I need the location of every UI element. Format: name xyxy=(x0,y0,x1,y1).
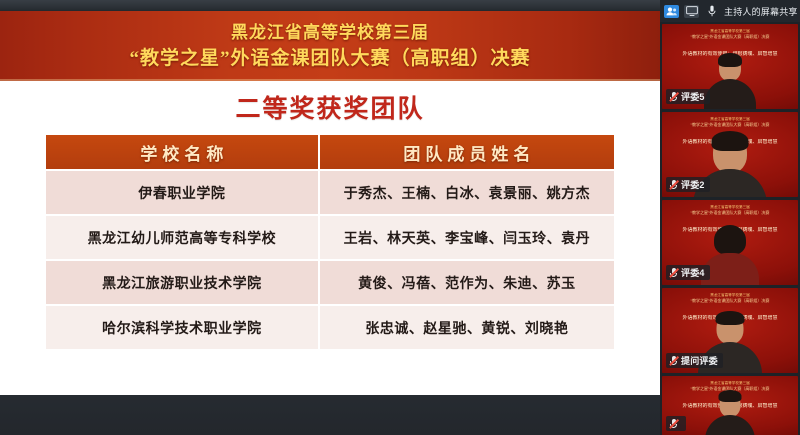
participant-tile[interactable]: 黑龙江省高等学校第三届 “教学之星”外语金课团队大赛（高职组）决赛 外语教材的有… xyxy=(662,288,798,373)
table-row: 哈尔滨科学技术职业学院 张忠诚、赵星驰、黄锐、刘晓艳 xyxy=(46,306,614,349)
awards-table-wrap: 学校名称 团队成员姓名 伊春职业学院 于秀杰、王楠、白冰、袁景丽、姚方杰 黑龙江… xyxy=(0,133,660,351)
participant-tile[interactable]: 黑龙江省高等学校第三届 “教学之星”外语金课团队大赛（高职组）决赛 外语教材的有… xyxy=(662,24,798,109)
shared-screen-area[interactable]: 黑龙江省高等学校第三届 “教学之星”外语金课团队大赛（高职组）决赛 二等奖获奖团… xyxy=(0,0,660,435)
slide-subtitle: 二等奖获奖团队 xyxy=(235,89,424,125)
cell-school: 黑龙江幼儿师范高等专科学校 xyxy=(46,216,318,259)
table-row: 黑龙江幼儿师范高等专科学校 王岩、林天英、李宝峰、闫玉玲、袁丹 xyxy=(46,216,614,259)
awards-table: 学校名称 团队成员姓名 伊春职业学院 于秀杰、王楠、白冰、袁景丽、姚方杰 黑龙江… xyxy=(44,133,616,351)
mic-muted-icon xyxy=(669,356,678,366)
tile-slide-line-2: “教学之星”外语金课团队大赛（高职组）决赛 xyxy=(666,210,794,216)
tile-name-badge: 评委5 xyxy=(666,89,710,104)
participants-icon[interactable] xyxy=(664,5,679,18)
top-letterbox-bar xyxy=(0,0,660,11)
tile-label: 评委4 xyxy=(681,266,705,279)
tile-name-badge: 提问评委 xyxy=(666,353,723,368)
meeting-screen: 黑龙江省高等学校第三届 “教学之星”外语金课团队大赛（高职组）决赛 二等奖获奖团… xyxy=(0,0,800,435)
cell-school: 伊春职业学院 xyxy=(46,171,318,214)
participant-tiles: 黑龙江省高等学校第三届 “教学之星”外语金课团队大赛（高职组）决赛 外语教材的有… xyxy=(660,22,800,435)
tile-name-badge: 评委2 xyxy=(666,177,710,192)
tile-label: 评委5 xyxy=(681,90,705,103)
tile-slide-line-2: “教学之星”外语金课团队大赛（高职组）决赛 xyxy=(666,34,794,40)
mic-muted-icon xyxy=(669,180,678,190)
mic-muted-icon xyxy=(669,419,678,429)
cell-school: 哈尔滨科学技术职业学院 xyxy=(46,306,318,349)
slide-subtitle-area: 二等奖获奖团队 xyxy=(0,81,660,133)
screen-share-icon[interactable] xyxy=(684,5,699,18)
banner-title-line-1: 黑龙江省高等学校第三届 xyxy=(231,21,429,45)
tile-name-badge: 评委4 xyxy=(666,265,710,280)
cell-members: 张忠诚、赵星驰、黄锐、刘晓艳 xyxy=(320,306,614,349)
banner-title-line-2: “教学之星”外语金课团队大赛（高职组）决赛 xyxy=(129,45,530,72)
tile-slide-line-2: “教学之星”外语金课团队大赛（高职组）决赛 xyxy=(666,298,794,304)
tile-name-badge xyxy=(666,416,686,431)
rail-header-title: 主持人的屏幕共享 xyxy=(724,5,798,18)
table-row: 伊春职业学院 于秀杰、王楠、白冰、袁景丽、姚方杰 xyxy=(46,171,614,214)
tile-slide-line-2: “教学之星”外语金课团队大赛（高职组）决赛 xyxy=(666,122,794,128)
mic-muted-icon xyxy=(669,92,678,102)
mic-muted-icon xyxy=(669,268,678,278)
cell-school: 黑龙江旅游职业技术学院 xyxy=(46,261,318,304)
column-header-members: 团队成员姓名 xyxy=(320,135,614,169)
cell-members: 于秀杰、王楠、白冰、袁景丽、姚方杰 xyxy=(320,171,614,214)
presentation-slide: 黑龙江省高等学校第三届 “教学之星”外语金课团队大赛（高职组）决赛 二等奖获奖团… xyxy=(0,11,660,395)
participant-tile[interactable]: 黑龙江省高等学校第三届 “教学之星”外语金课团队大赛（高职组）决赛 外语教材的有… xyxy=(662,376,798,435)
video-rail: 主持人的屏幕共享 黑龙江省高等学校第三届 “教学之星”外语金课团队大赛（高职组）… xyxy=(660,0,800,435)
bottom-letterbox-bar xyxy=(0,395,660,435)
rail-header: 主持人的屏幕共享 xyxy=(660,0,800,22)
tile-label: 评委2 xyxy=(681,178,705,191)
participant-tile[interactable]: 黑龙江省高等学校第三届 “教学之星”外语金课团队大赛（高职组）决赛 外语教材的有… xyxy=(662,112,798,197)
cell-members: 黄俊、冯蓓、范作为、朱迪、苏玉 xyxy=(320,261,614,304)
table-header-row: 学校名称 团队成员姓名 xyxy=(46,135,614,169)
table-row: 黑龙江旅游职业技术学院 黄俊、冯蓓、范作为、朱迪、苏玉 xyxy=(46,261,614,304)
column-header-school: 学校名称 xyxy=(46,135,318,169)
tile-label: 提问评委 xyxy=(681,354,718,367)
cell-members: 王岩、林天英、李宝峰、闫玉玲、袁丹 xyxy=(320,216,614,259)
slide-banner: 黑龙江省高等学校第三届 “教学之星”外语金课团队大赛（高职组）决赛 xyxy=(0,11,660,81)
microphone-icon[interactable] xyxy=(704,5,719,18)
participant-tile[interactable]: 黑龙江省高等学校第三届 “教学之星”外语金课团队大赛（高职组）决赛 外语教材的有… xyxy=(662,200,798,285)
participant-video-figure xyxy=(701,392,759,435)
